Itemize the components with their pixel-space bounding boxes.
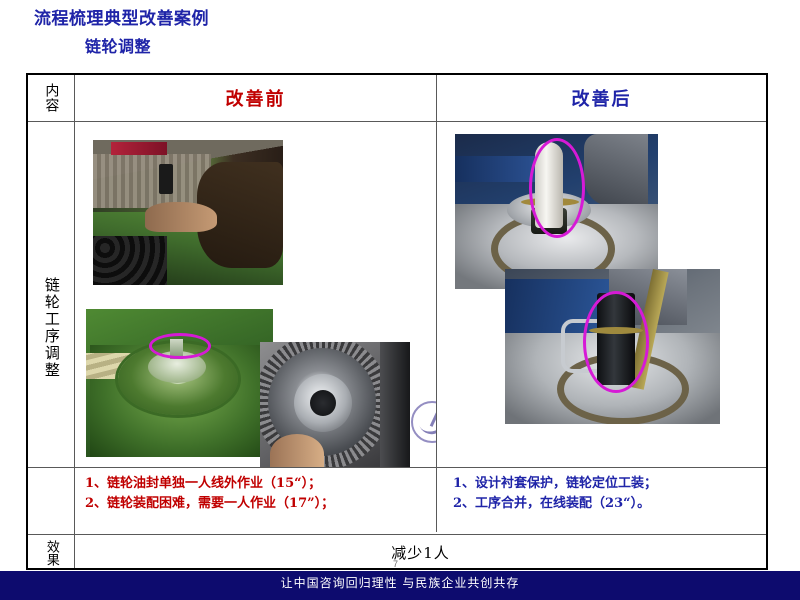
- sprocket-in-hand-photo: [260, 342, 410, 467]
- holding-fingers: [270, 434, 324, 467]
- effect-label-cell: 效果: [28, 535, 74, 570]
- page-subtitle: 链轮调整: [85, 33, 151, 57]
- row-label-text: 链轮工序调整: [43, 277, 59, 379]
- row-label-cell: 链轮工序调整: [28, 122, 74, 534]
- effect-label-text: 效果: [44, 540, 58, 566]
- after-point-1: 1、设计衬套保护，链轮定位工装；: [453, 474, 766, 494]
- red-sign: [111, 142, 167, 155]
- worker-torso: [584, 134, 648, 206]
- header-cell-after: 改善后: [437, 75, 766, 121]
- hand-tool: [159, 164, 173, 194]
- before-point-1: 1、链轮油封单独一人线外作业（15“）；: [85, 474, 436, 494]
- parts-bin: [93, 236, 167, 285]
- improvement-comparison-table: 内容 改善前 改善后 链轮工序调整: [26, 73, 768, 570]
- footer-text: 让中国咨询回归理性 与民族企业共创共存: [0, 574, 800, 591]
- green-gear-housing-photo: [86, 309, 273, 457]
- header-cell-content: 内容: [28, 75, 74, 121]
- watermark: 求正改善 Qiu Zheng kaizen 为中国企业提供解决方案服务商: [411, 398, 436, 446]
- after-photo-pane: [437, 122, 766, 467]
- before-point-2: 2、链轮装配困难，需要一人作业（17”）；: [85, 494, 436, 514]
- after-point-2: 2、工序合并，在线装配（23“）。: [453, 494, 766, 514]
- magenta-highlight-ellipse: [149, 333, 211, 359]
- before-points-cell: 1、链轮油封单独一人线外作业（15“）； 2、链轮装配困难，需要一人作业（17”…: [75, 468, 436, 534]
- black-locating-tool-photo: [505, 269, 720, 424]
- white-sleeve-tool-photo: [455, 134, 658, 289]
- blue-fixture-bar: [455, 156, 535, 182]
- pegboard-wall: [93, 154, 211, 208]
- before-photo-pane: 求正改善 Qiu Zheng kaizen 为中国企业提供解决方案服务商: [75, 122, 436, 467]
- after-points-cell: 1、设计衬套保护，链轮定位工装； 2、工序合并，在线装配（23“）。: [437, 468, 766, 534]
- effect-value-cell: 减少1人: [75, 535, 766, 570]
- header-cell-before: 改善前: [75, 75, 436, 121]
- company-logo-icon: [411, 401, 436, 443]
- magenta-highlight-ellipse: [529, 138, 585, 238]
- photo-dark-edge: [380, 342, 410, 467]
- worker-hand: [145, 202, 217, 232]
- sprocket-bore: [310, 390, 336, 416]
- slide-canvas: 流程梳理典型改善案例 链轮调整 内容 改善前 改善后 链轮工序调整: [0, 0, 800, 600]
- worker-assembling-chain-photo: [93, 140, 283, 285]
- magenta-highlight-ellipse: [583, 291, 649, 393]
- page-title: 流程梳理典型改善案例: [34, 4, 209, 29]
- page-number: 7: [393, 559, 398, 569]
- header-content-label: 内容: [44, 83, 59, 113]
